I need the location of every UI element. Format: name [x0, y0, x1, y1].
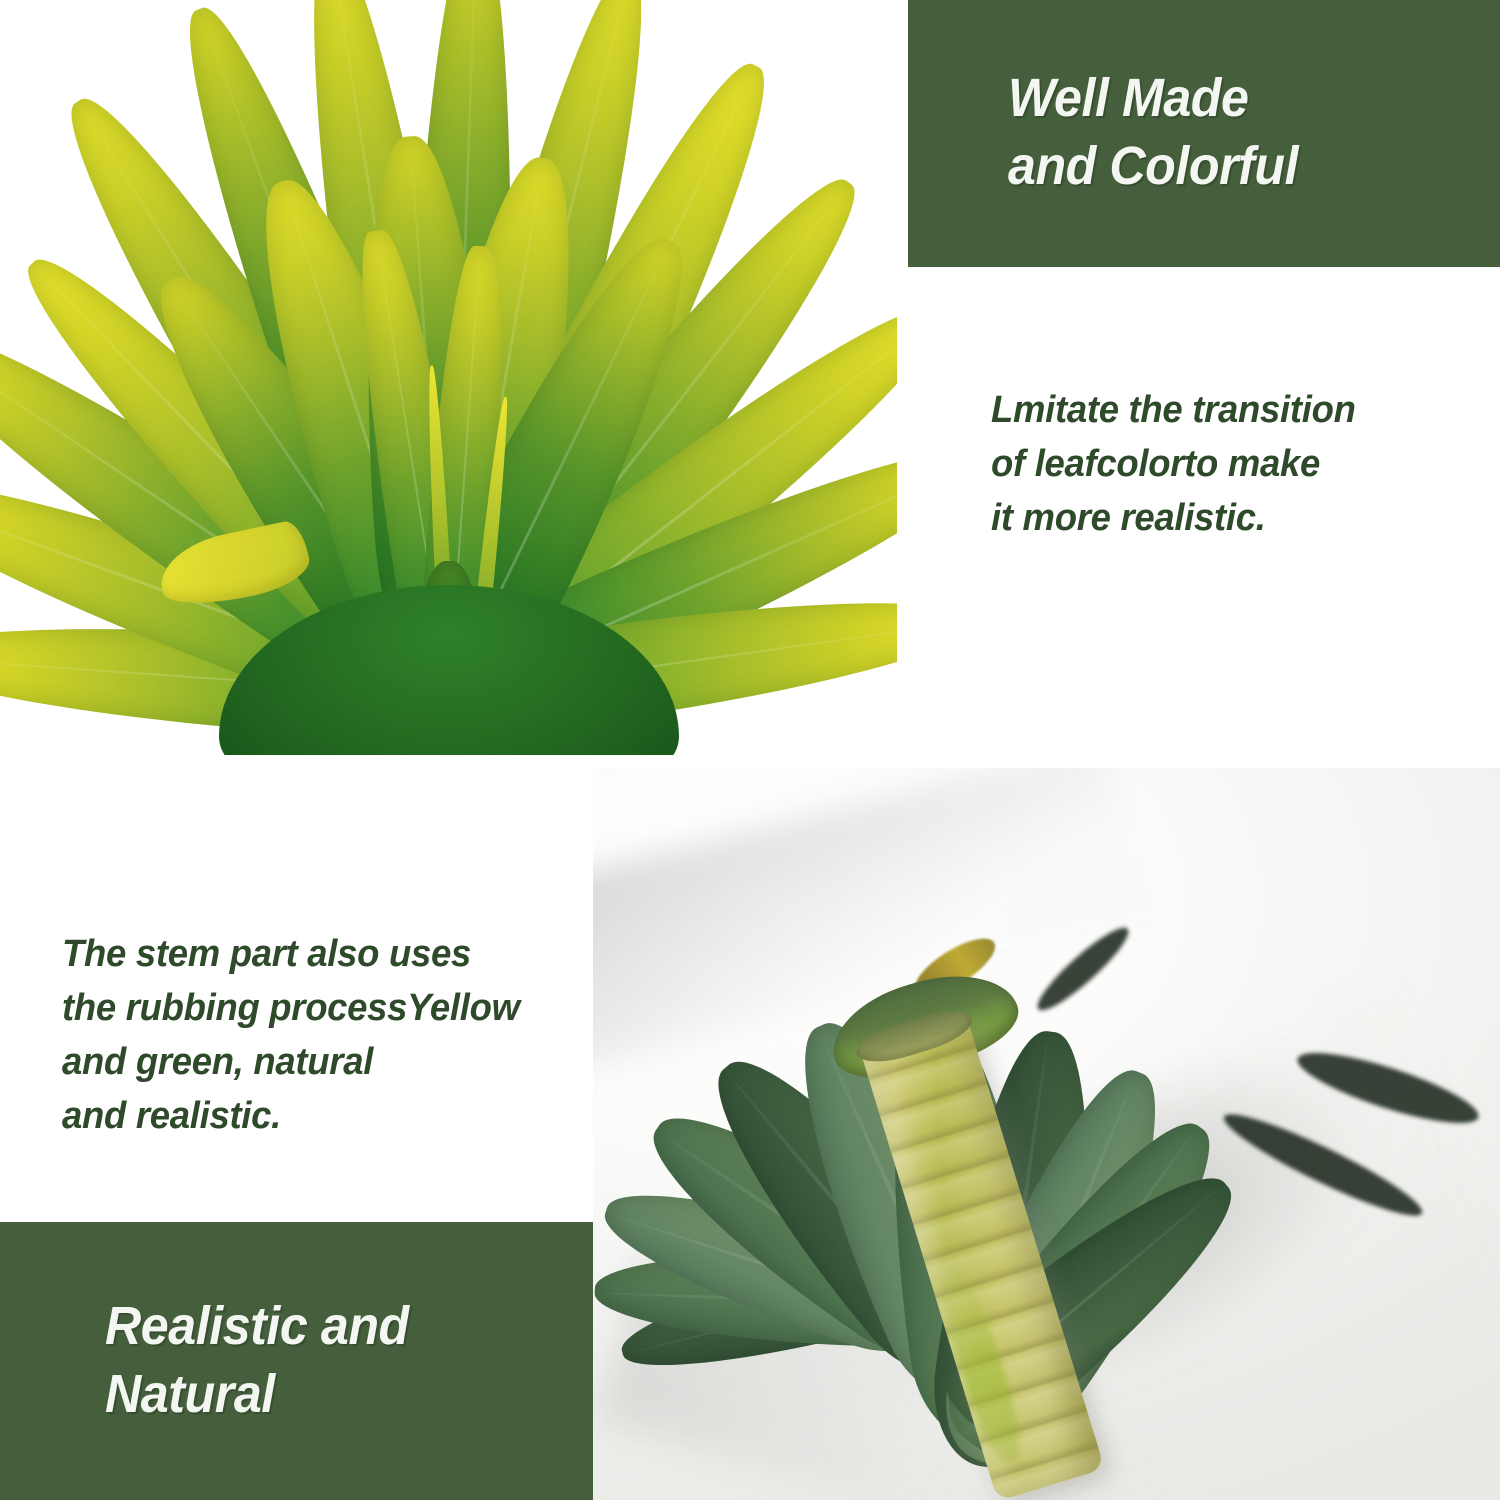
photo-agave-stem-underside	[593, 768, 1500, 1500]
copy-stem-rubbing-process: The stem part also uses the rubbing proc…	[62, 928, 580, 1144]
banner-heading-realistic-natural: Realistic and Natural	[105, 1292, 409, 1428]
banner-well-made-and-colorful: Well Made and Colorful	[908, 0, 1500, 267]
copy-leaf-color-transition: Lmitate the transition of leafcolorto ma…	[991, 384, 1442, 546]
product-infographic: Well Made and Colorful Lmitate the trans…	[0, 0, 1500, 1500]
banner-realistic-and-natural: Realistic and Natural	[0, 1222, 593, 1500]
photo-agave-rosette-closeup	[0, 0, 897, 755]
banner-heading-well-made: Well Made and Colorful	[1008, 64, 1298, 200]
